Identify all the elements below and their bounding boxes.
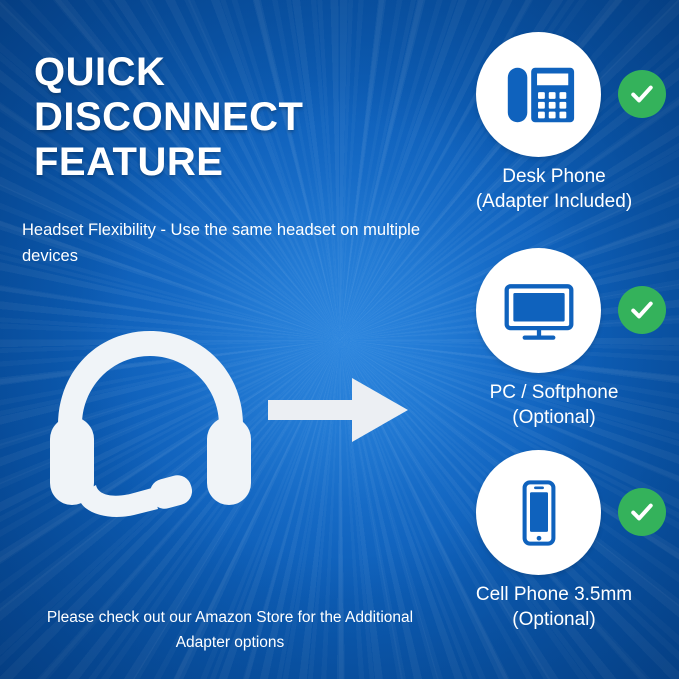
check-icon [618,488,666,536]
product-feature-poster: Quick Disconnect Feature Headset Flexibi… [0,0,679,679]
device-label-desk-phone: Desk Phone (Adapter Included) [430,164,678,215]
right-arrow-icon [268,378,408,442]
device-label-cell-phone: Cell Phone 3.5mm (Optional) [430,582,678,633]
device-name: PC / Softphone [490,382,619,403]
device-note: (Optional) [430,405,678,430]
headset-icon [38,325,263,520]
check-icon [618,286,666,334]
desk-phone-icon [476,32,601,157]
device-name: Desk Phone [502,166,606,187]
device-note: (Adapter Included) [430,189,678,214]
check-icon [618,70,666,118]
subheading-text: Headset Flexibility - Use the same heads… [22,218,422,269]
cell-phone-icon [476,450,601,575]
monitor-icon [476,248,601,373]
device-label-pc-softphone: PC / Softphone (Optional) [430,380,678,431]
device-note: (Optional) [430,607,678,632]
footnote-text: Please check out our Amazon Store for th… [20,606,440,656]
device-name: Cell Phone 3.5mm [476,584,632,605]
headline: Quick Disconnect Feature [34,50,444,184]
